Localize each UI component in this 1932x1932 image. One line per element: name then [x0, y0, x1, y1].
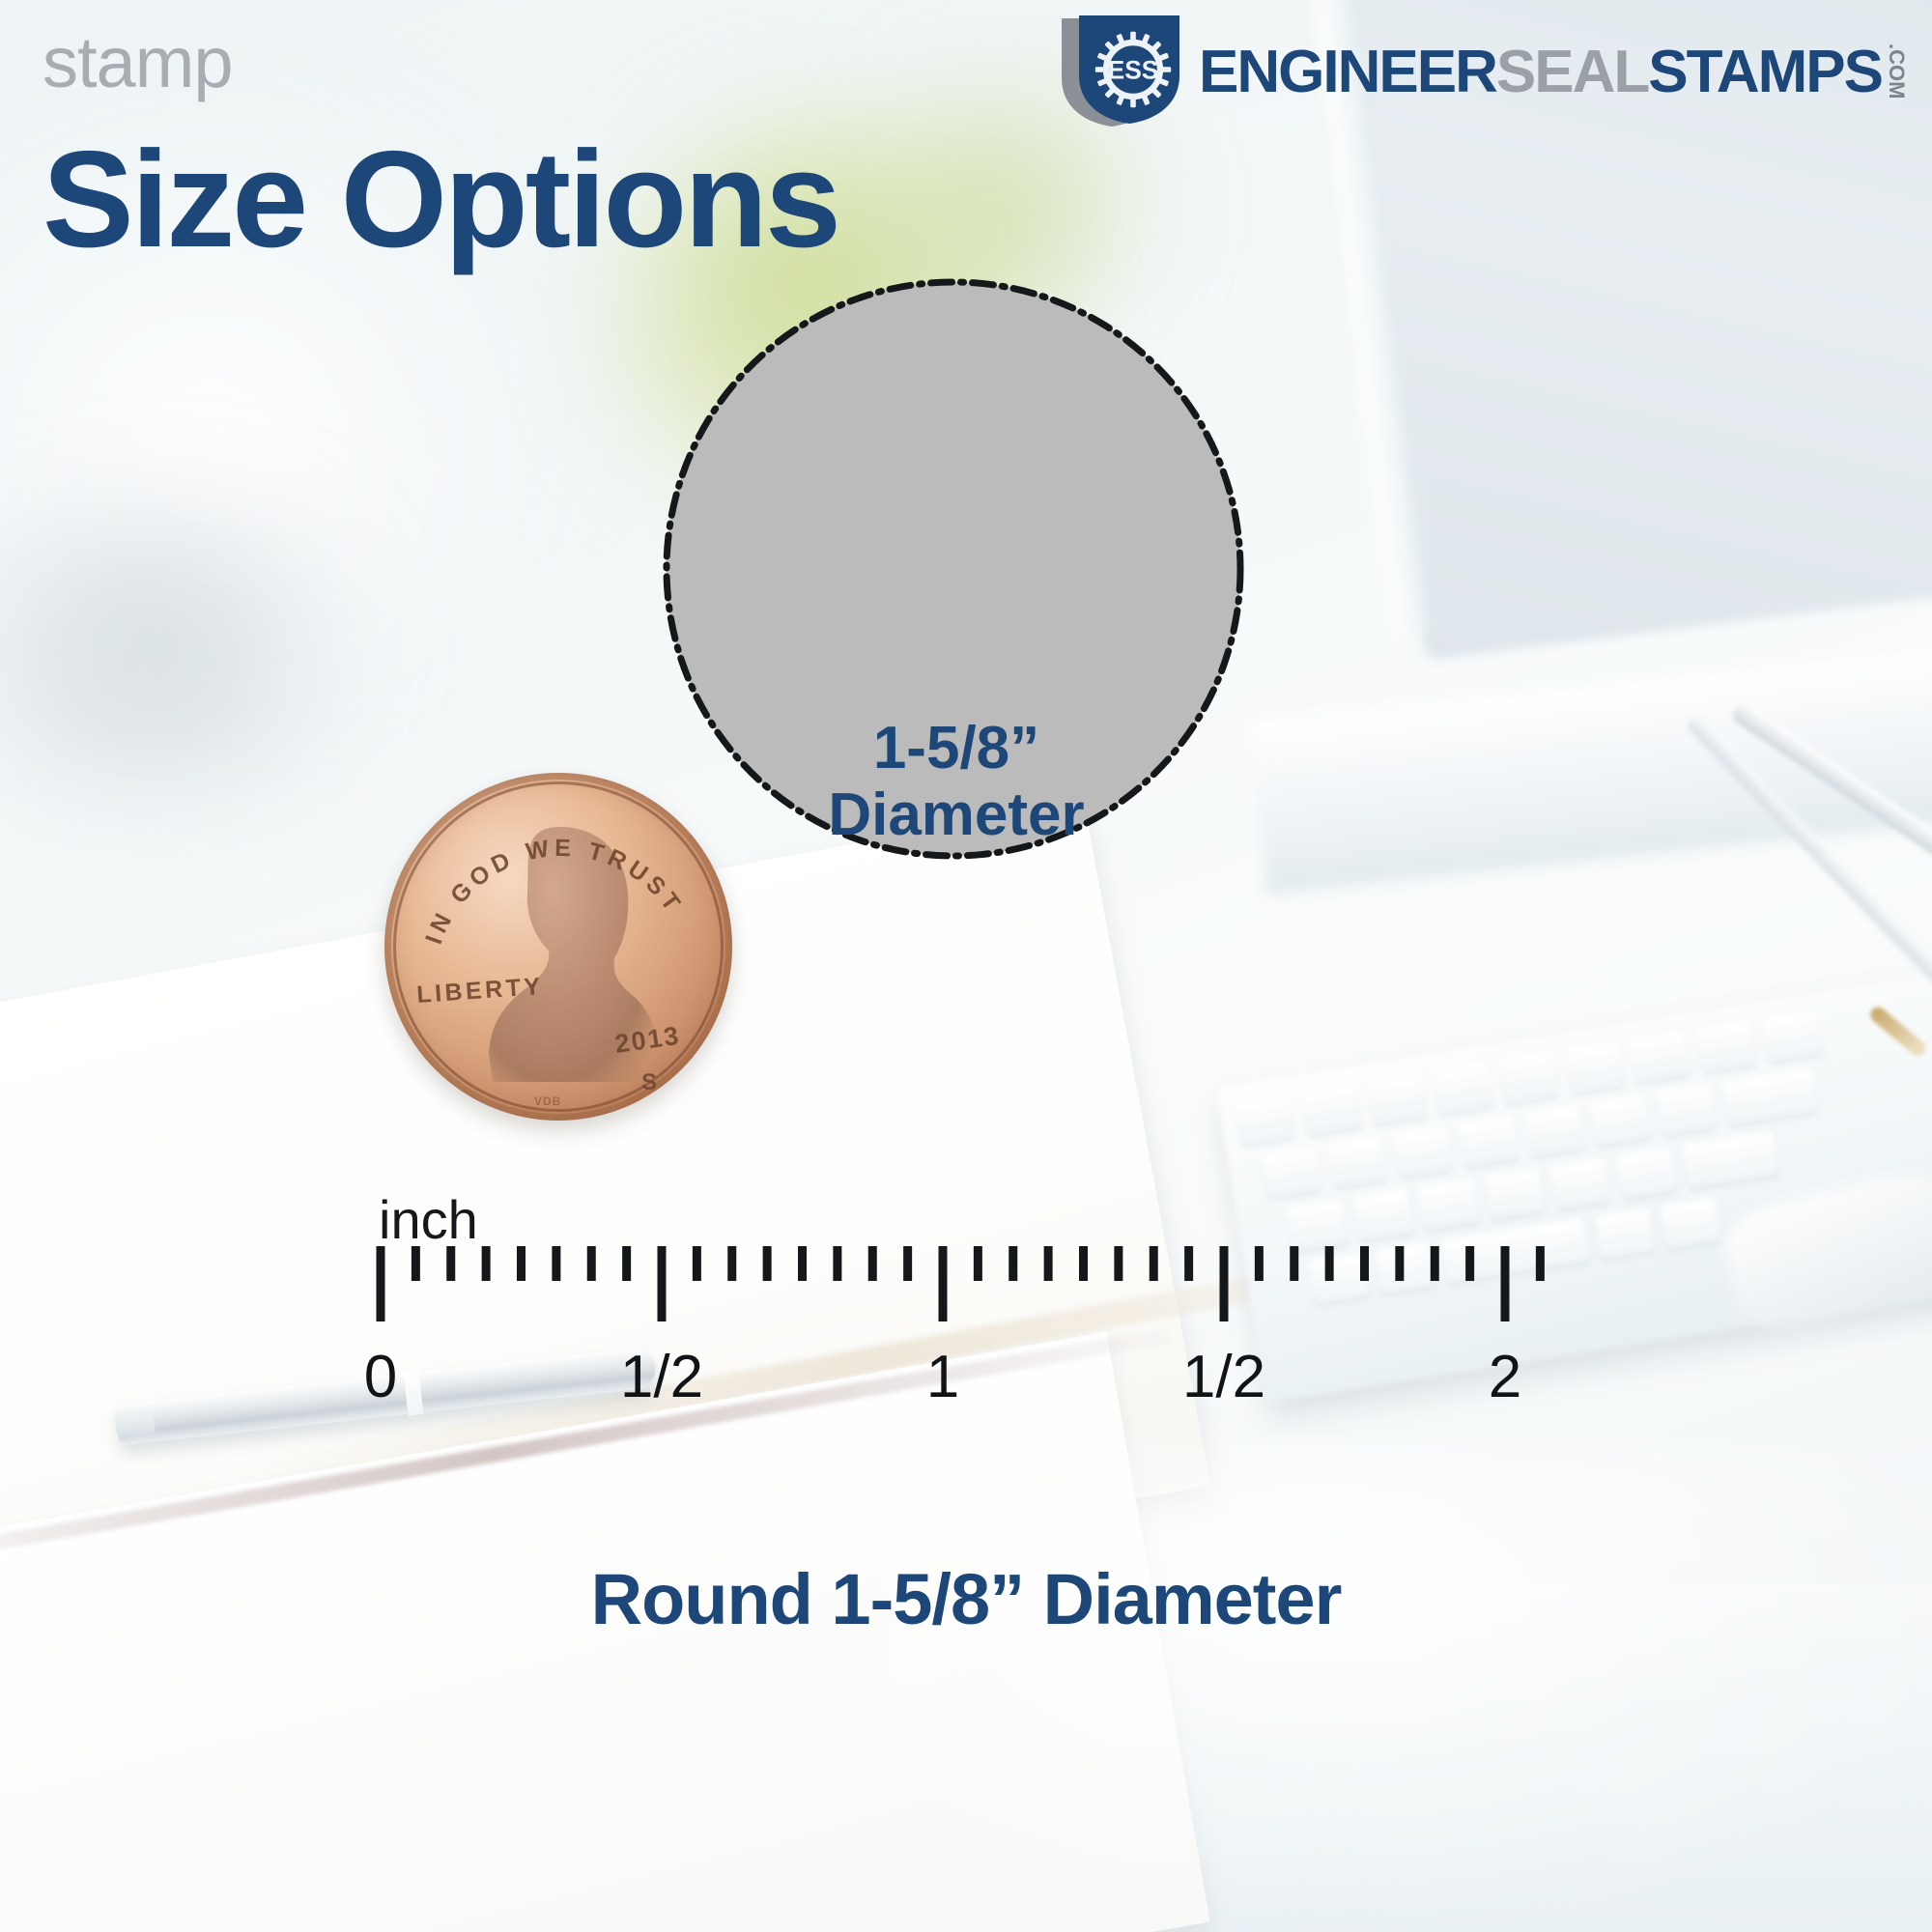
keyboard-key [1660, 1197, 1721, 1250]
engineer-seal-stamps-logo[interactable]: ESS ENGINEERSEALSTAMPS.COM [1062, 15, 1907, 129]
keyboard-key [1458, 1115, 1520, 1168]
ruler-tick-label: 1 [926, 1343, 959, 1411]
coin-mint-mark-text: S [641, 1069, 657, 1095]
ruler-tick-label: 2 [1489, 1343, 1521, 1411]
size-options-graphic: stamp Size Options [0, 0, 1932, 1932]
keyboard-key [1523, 1105, 1585, 1158]
keyboard-key [1594, 1207, 1656, 1261]
coin-liberty-text: LIBERTY [415, 973, 544, 1009]
keyboard-key [1681, 1131, 1779, 1189]
keyboard-key [1300, 1084, 1362, 1137]
inch-ruler: inch 01/211/22 [367, 1198, 1555, 1372]
keyboard-key [1761, 1010, 1823, 1064]
coin-year-text: 2013 [613, 1021, 683, 1059]
logo-wordmark: ENGINEERSEALSTAMPS.COM [1199, 43, 1907, 102]
keyboard-key [1589, 1094, 1651, 1148]
keyboard-key [1497, 1052, 1559, 1105]
stamp-size-label: 1-5/8” Diameter [734, 715, 1179, 849]
page-title: Size Options [43, 131, 838, 269]
ess-shield-icon: ESS [1062, 15, 1185, 129]
bottom-caption: Round 1-5/8” Diameter [0, 1558, 1932, 1640]
keyboard-key [1549, 1157, 1611, 1210]
logo-word-seal: SEAL [1496, 43, 1648, 102]
logo-word-stamps: STAMPS [1648, 43, 1882, 102]
ruler-tick-label: 0 [364, 1343, 397, 1411]
marker-cap-end [114, 1408, 156, 1437]
stamp-size-value: 1-5/8” [734, 715, 1179, 781]
coin-motto-text: IN GOD WE TRUST [420, 835, 688, 948]
ruler-ticks [367, 1198, 1555, 1323]
keyboard-key [1656, 1084, 1718, 1137]
keyboard-key [1721, 1067, 1820, 1125]
ess-mark-text: ESS [1108, 56, 1159, 85]
ruler-tick-label: 1/2 [1182, 1343, 1265, 1411]
keyboard-key [1366, 1073, 1428, 1126]
keyboard-key [1630, 1032, 1691, 1085]
stamp-size-unit: Diameter [734, 781, 1179, 848]
gear-icon: ESS [1094, 31, 1172, 108]
ruler-tick-label: 1/2 [620, 1343, 703, 1411]
keyboard-key [1235, 1094, 1296, 1147]
logo-tld: .COM [1886, 43, 1907, 99]
penny-coin: IN GOD WE TRUST LIBERTY 2013 S VDB [384, 773, 732, 1121]
coin-inscriptions: IN GOD WE TRUST LIBERTY 2013 S VDB [384, 773, 732, 1121]
desk-light-sheen [869, 1449, 1932, 1932]
keyboard-key [1615, 1147, 1677, 1200]
coin-designer-initials: VDB [534, 1094, 561, 1108]
keyboard-key [1261, 1147, 1322, 1200]
keyboard-key [1564, 1041, 1626, 1094]
keyboard-key [1695, 1021, 1757, 1074]
brand-word: stamp [43, 27, 233, 99]
keyboard-key [1392, 1125, 1454, 1179]
keyboard-key [1326, 1136, 1388, 1189]
keyboard-key [1432, 1063, 1493, 1116]
logo-word-engineer: ENGINEER [1199, 43, 1496, 102]
